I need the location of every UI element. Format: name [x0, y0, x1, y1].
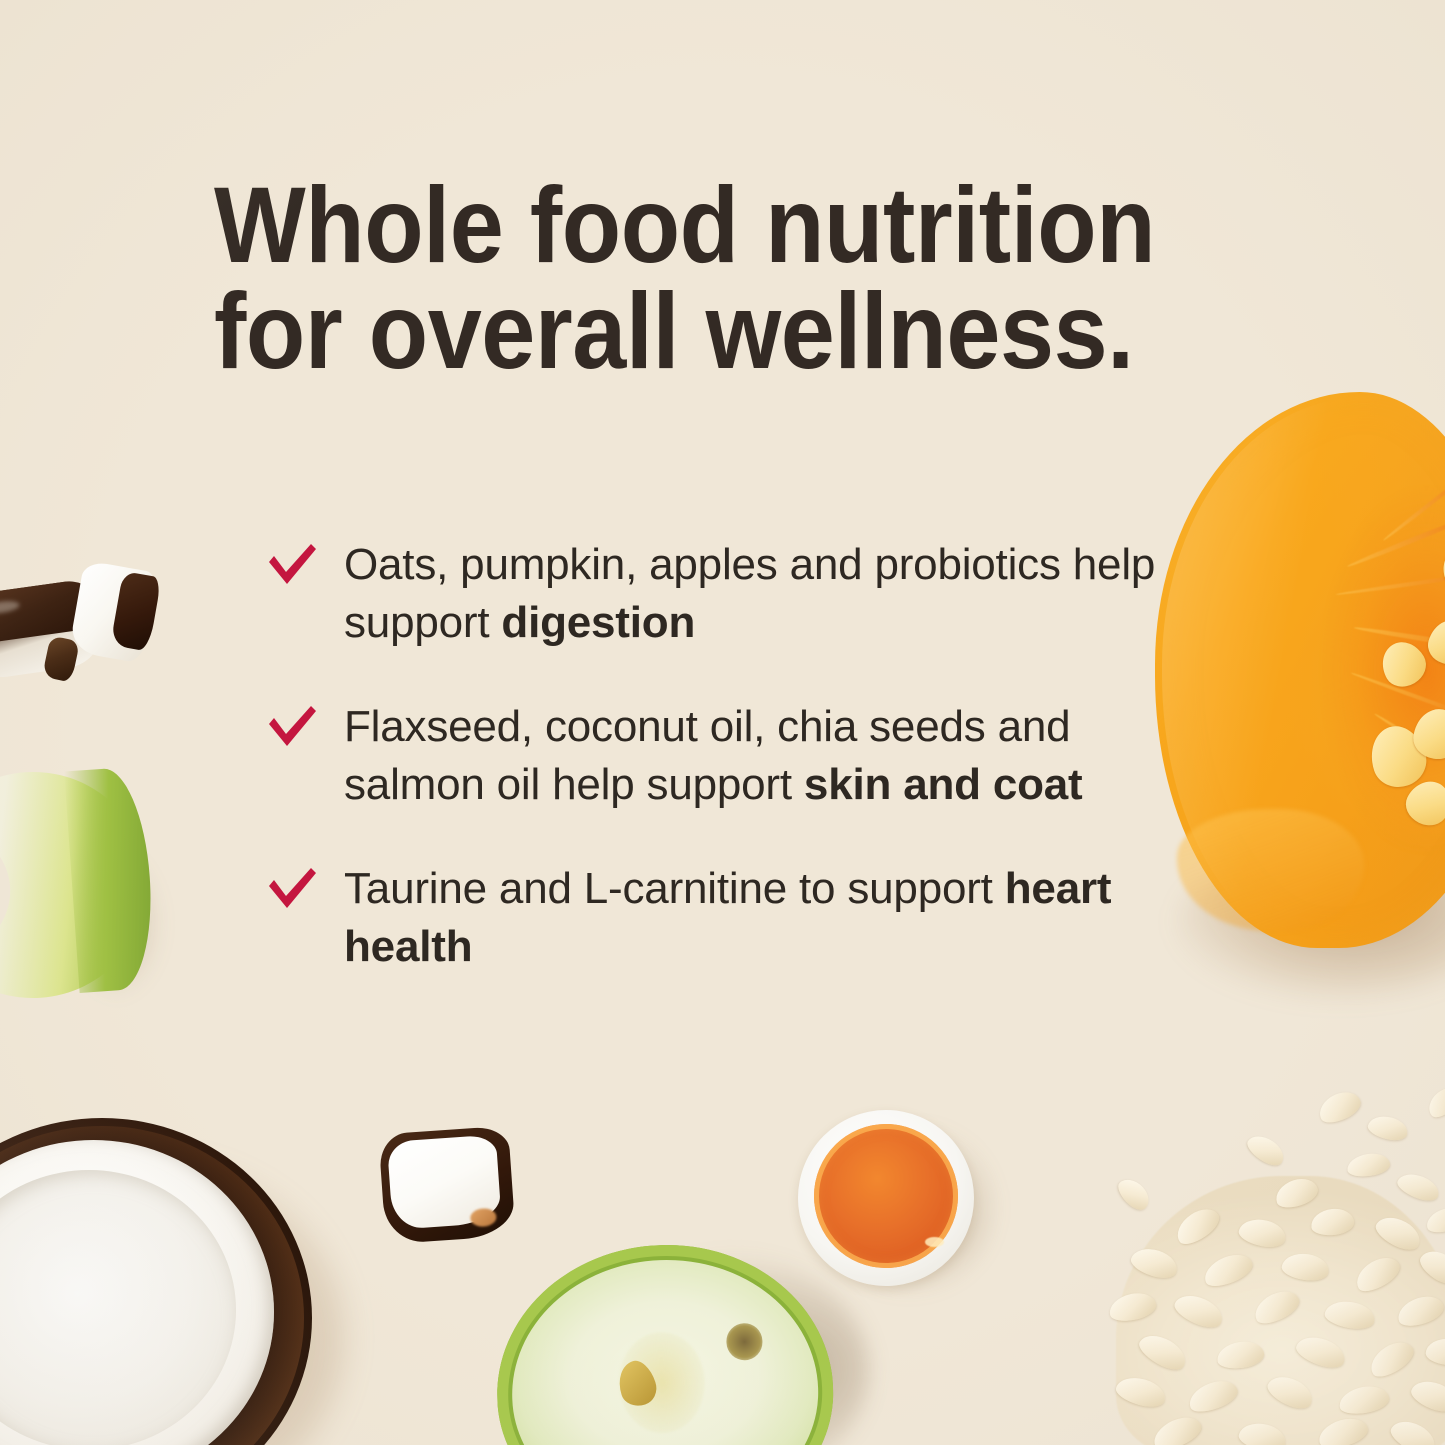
product-benefits-infographic: Whole food nutrition for overall wellnes…	[0, 0, 1445, 1445]
check-icon	[266, 866, 318, 912]
benefits-list: Oats, pumpkin, apples and probiotics hel…	[266, 536, 1196, 976]
list-item: Oats, pumpkin, apples and probiotics hel…	[266, 536, 1196, 652]
benefit-text-regular: Taurine and L-carnitine to support	[344, 864, 1005, 913]
benefit-text-emphasis: digestion	[501, 598, 695, 647]
benefit-text-regular: Oats, pumpkin, apples and probiotics hel…	[344, 540, 1155, 647]
check-icon	[266, 542, 318, 588]
text-content-layer: Whole food nutrition for overall wellnes…	[0, 0, 1445, 1445]
list-item: Taurine and L-carnitine to support heart…	[266, 860, 1196, 976]
benefit-text-emphasis: skin and coat	[804, 760, 1083, 809]
check-icon	[266, 704, 318, 750]
list-item: Flaxseed, coconut oil, chia seeds and sa…	[266, 698, 1196, 814]
page-title: Whole food nutrition for overall wellnes…	[214, 172, 1177, 384]
